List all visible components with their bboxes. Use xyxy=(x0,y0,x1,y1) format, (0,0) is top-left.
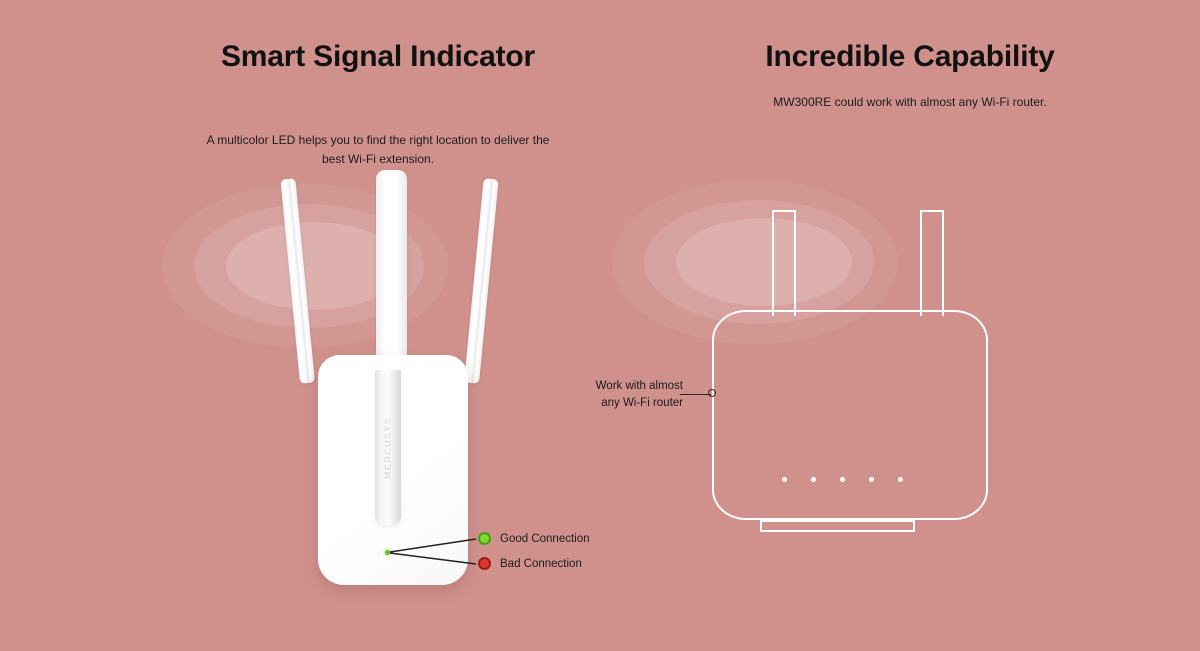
subcopy-right: MW300RE could work with almost any Wi-Fi… xyxy=(665,93,1155,112)
panel-smart-signal-indicator: Smart Signal Indicator A multicolor LED … xyxy=(0,0,620,651)
router-antenna-left-icon xyxy=(772,210,796,316)
router-callout-leader-line xyxy=(680,394,711,395)
legend-label-bad: Bad Connection xyxy=(500,558,582,570)
router-body xyxy=(712,310,988,520)
router-led xyxy=(898,477,903,482)
promo-banner: Smart Signal Indicator A multicolor LED … xyxy=(0,0,1200,651)
page-title-right: Incredible Capability xyxy=(670,38,1150,76)
router-callout-endpoint-icon xyxy=(708,389,716,397)
router-callout-line-1: Work with almost xyxy=(578,378,683,395)
router-stand xyxy=(760,520,915,532)
legend-item-good-connection: Good Connection xyxy=(478,532,590,545)
led-green-icon xyxy=(478,532,491,545)
router-outline-graphic xyxy=(700,210,1000,590)
led-callout-group: Good Connection Bad Connection xyxy=(278,170,618,595)
led-red-icon xyxy=(478,557,491,570)
legend-label-good: Good Connection xyxy=(500,533,590,545)
router-led xyxy=(869,477,874,482)
router-callout-text: Work with almost any Wi-Fi router xyxy=(578,378,683,411)
router-callout-line-2: any Wi-Fi router xyxy=(578,395,683,412)
router-led xyxy=(782,477,787,482)
router-antenna-right-icon xyxy=(920,210,944,316)
router-callout-group: Work with almost any Wi-Fi router xyxy=(575,378,725,423)
subcopy-left: A multicolor LED helps you to find the r… xyxy=(198,131,558,169)
legend-item-bad-connection: Bad Connection xyxy=(478,557,582,570)
router-led xyxy=(811,477,816,482)
router-led-row xyxy=(782,477,903,482)
router-led xyxy=(840,477,845,482)
page-title-left: Smart Signal Indicator xyxy=(178,38,578,76)
